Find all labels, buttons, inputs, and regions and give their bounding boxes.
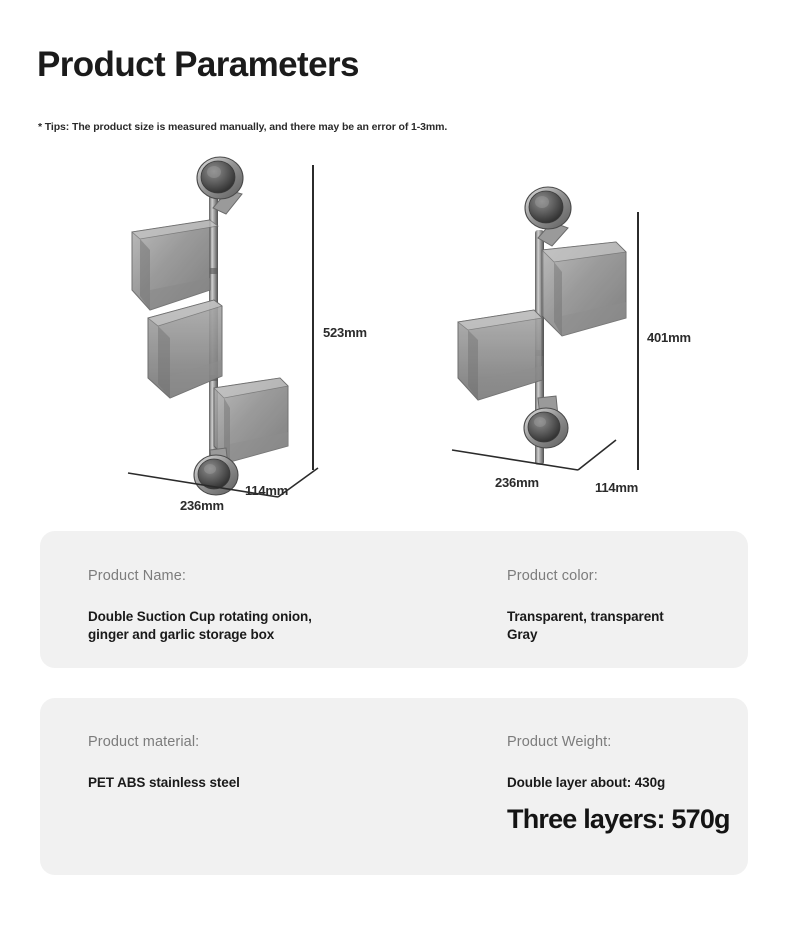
tips-note: * Tips: The product size is measured man… <box>38 121 447 133</box>
field-product-weight: Product Weight: Double layer about: 430g… <box>507 733 730 834</box>
product-material-label: Product material: <box>88 733 240 752</box>
basket-tier-2 <box>458 310 542 400</box>
height-dim-label: 401mm <box>647 330 691 345</box>
suction-cup-bottom <box>524 408 568 448</box>
suction-cup-top <box>525 187 571 229</box>
product-color-label: Product color: <box>507 567 664 586</box>
height-dim-line <box>637 212 639 470</box>
product-weight-label: Product Weight: <box>507 733 730 752</box>
info-card-material-weight: Product material: PET ABS stainless stee… <box>40 698 748 875</box>
three-layer-rack-illustration <box>110 150 430 520</box>
width-dim-label: 236mm <box>495 475 539 490</box>
depth-dim-label: 114mm <box>245 483 288 498</box>
field-product-color: Product color: Transparent, transparent … <box>507 567 664 643</box>
basket-tier-1 <box>542 242 626 336</box>
width-dim-line <box>452 450 578 470</box>
product-weight-double-layer: Double layer about: 430g <box>507 774 730 792</box>
width-dim-label: 236mm <box>180 498 224 513</box>
height-dim-line <box>312 165 314 470</box>
field-product-material: Product material: PET ABS stainless stee… <box>88 733 240 792</box>
product-color-value: Transparent, transparent Gray <box>507 608 664 644</box>
product-name-label: Product Name: <box>88 567 312 586</box>
product-material-value: PET ABS stainless steel <box>88 774 240 792</box>
product-name-value: Double Suction Cup rotating onion, ginge… <box>88 608 312 644</box>
depth-dim-line <box>578 440 616 470</box>
diagram-three-layer: 523mm 236mm 114mm <box>110 150 430 520</box>
info-card-name-color: Product Name: Double Suction Cup rotatin… <box>40 531 748 668</box>
field-product-name: Product Name: Double Suction Cup rotatin… <box>88 567 312 643</box>
suction-cup-top <box>197 157 243 199</box>
basket-tier-1 <box>132 220 218 310</box>
product-diagrams: 523mm 236mm 114mm <box>0 150 790 520</box>
product-weight-three-layers: Three layers: 570g <box>507 805 730 835</box>
depth-dim-label: 114mm <box>595 480 638 495</box>
two-layer-rack-illustration <box>430 150 760 520</box>
page-title: Product Parameters <box>37 47 359 84</box>
height-dim-label: 523mm <box>323 325 367 340</box>
product-parameters-page: Product Parameters * Tips: The product s… <box>0 0 790 935</box>
diagram-two-layer: 401mm 236mm 114mm <box>430 150 760 520</box>
